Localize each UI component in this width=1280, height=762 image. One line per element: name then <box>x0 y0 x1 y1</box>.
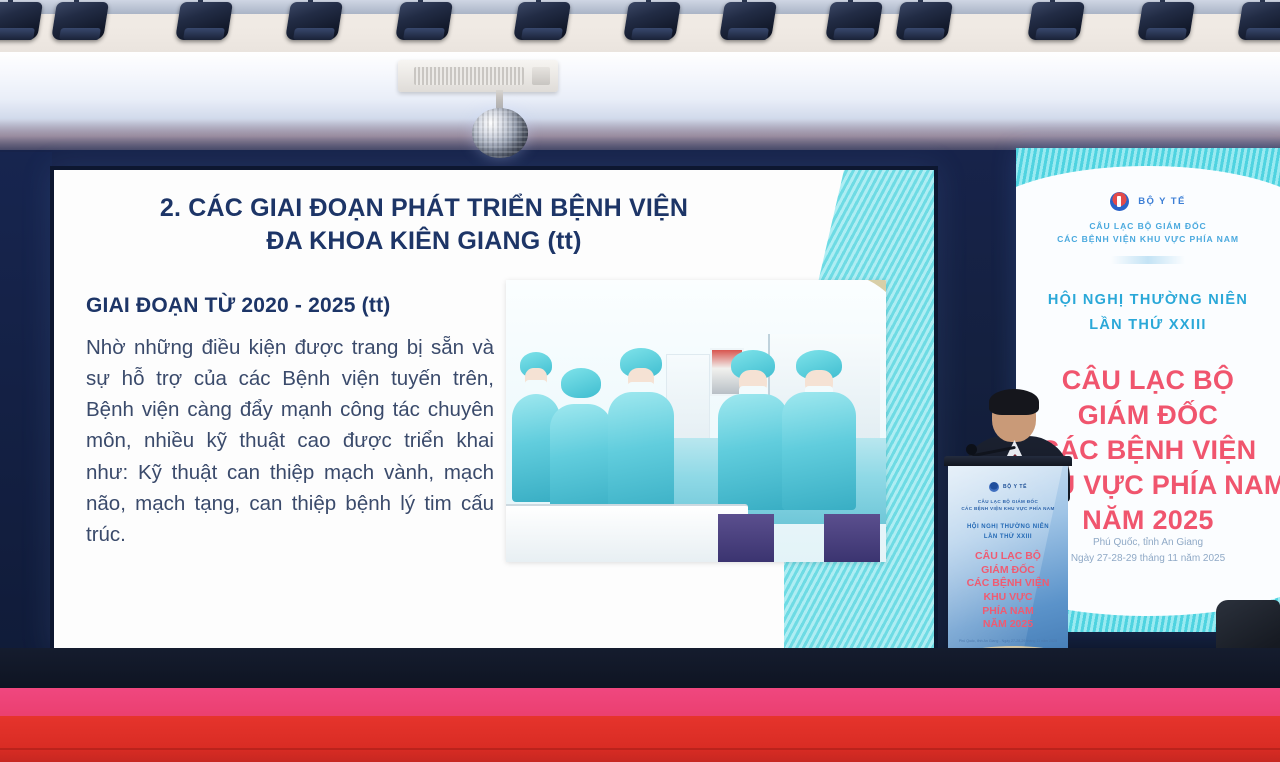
stage-light-icon <box>1240 0 1280 44</box>
stage-carpet-pink <box>0 688 1280 718</box>
ministry-of-health-logo-icon <box>989 482 999 492</box>
mirror-ball-icon <box>472 108 528 158</box>
banner-club-line2: CÁC BỆNH VIỆN KHU VỰC PHÍA NAM <box>1016 233 1280 246</box>
stage-carpet-red <box>0 716 1280 762</box>
banner-conference-line1: HỘI NGHỊ THƯỜNG NIÊN <box>1016 288 1280 313</box>
podium-conference-text: HỘI NGHỊ THƯỜNG NIÊN LẦN THỨ XXIII <box>948 522 1068 542</box>
backdrop-left-panel <box>0 152 52 672</box>
slide-body-text: Nhờ những điều kiện được trang bị sẵn và… <box>86 332 494 550</box>
stage-light-icon <box>626 0 678 44</box>
podium-conference-line1: HỘI NGHỊ THƯỜNG NIÊN <box>948 522 1068 532</box>
microphone-icon <box>966 444 977 455</box>
lead-apron <box>824 514 880 562</box>
stage-light-icon <box>516 0 568 44</box>
stage-light-icon <box>54 0 106 44</box>
ac-vent <box>532 67 550 85</box>
podium-ministry-row: BỘ Y TẾ <box>948 482 1068 492</box>
surgeon-figure <box>718 350 788 510</box>
stage-light-icon <box>288 0 340 44</box>
slide-title-line1: 2. CÁC GIAI ĐOẠN PHÁT TRIỂN BỆNH VIỆN <box>94 192 754 225</box>
surgeon-figure <box>782 350 856 510</box>
stage-carpet-seam <box>0 748 1280 750</box>
podium-headline: CÂU LẠC BỘ GIÁM ĐỐC CÁC BỆNH VIỆN KHU VỰ… <box>948 550 1068 632</box>
stage-scene: 2. CÁC GIAI ĐOẠN PHÁT TRIỂN BỆNH VIỆN ĐA… <box>0 0 1280 762</box>
podium-ministry-label: BỘ Y TẾ <box>1003 484 1027 490</box>
banner-conference-text: HỘI NGHỊ THƯỜNG NIÊN LẦN THỨ XXIII <box>1016 288 1280 338</box>
podium-headline-line: CÁC BỆNH VIỆN <box>948 577 1068 591</box>
stage-lip <box>0 648 1280 690</box>
podium-club-line1: CÂU LẠC BỘ GIÁM ĐỐC <box>948 498 1068 505</box>
podium-headline-line: KHU VỰC <box>948 591 1068 605</box>
slide-subtitle: GIAI ĐOẠN TỪ 2020 - 2025 (tt) <box>86 294 516 318</box>
mirror-ball-stem <box>496 90 503 110</box>
lead-apron <box>718 514 774 562</box>
podium-club-line2: CÁC BỆNH VIỆN KHU VỰC PHÍA NAM <box>948 505 1068 512</box>
stage-light-icon <box>398 0 450 44</box>
banner-ministry-row: BỘ Y TẾ <box>1016 192 1280 211</box>
speaker-hair <box>989 389 1039 415</box>
podium-place-date: Phú Quốc, tỉnh An Giang - Ngày 27-28-29 … <box>948 639 1068 644</box>
surgeon-figure <box>608 348 674 516</box>
podium-club-text: CÂU LẠC BỘ GIÁM ĐỐC CÁC BỆNH VIỆN KHU VỰ… <box>948 498 1068 513</box>
stage-light-icon <box>1140 0 1192 44</box>
stage-light-icon <box>0 0 40 44</box>
slide-title: 2. CÁC GIAI ĐOẠN PHÁT TRIỂN BỆNH VIỆN ĐA… <box>94 192 754 257</box>
banner-club-line1: CÂU LẠC BỘ GIÁM ĐỐC <box>1016 220 1280 233</box>
banner-divider <box>1111 256 1185 264</box>
banner-ministry-label: BỘ Y TẾ <box>1138 196 1185 207</box>
podium-top-surface <box>944 456 1072 466</box>
banner-conference-line2: LẦN THỨ XXIII <box>1016 313 1280 338</box>
operating-table <box>506 504 748 562</box>
podium-panel: BỘ Y TẾ CÂU LẠC BỘ GIÁM ĐỐC CÁC BỆNH VIỆ… <box>948 466 1068 678</box>
podium-headline-line: PHÍA NAM <box>948 605 1068 619</box>
slide-title-line2: ĐA KHOA KIÊN GIANG (tt) <box>94 225 754 258</box>
projection-screen: 2. CÁC GIAI ĐOẠN PHÁT TRIỂN BỆNH VIỆN ĐA… <box>54 170 934 648</box>
stage-light-icon <box>898 0 950 44</box>
banner-club-text: CÂU LẠC BỘ GIÁM ĐỐC CÁC BỆNH VIỆN KHU VỰ… <box>1016 220 1280 247</box>
surgeon-figure <box>550 368 612 514</box>
podium-headline-line: GIÁM ĐỐC <box>948 564 1068 578</box>
stage-light-icon <box>1030 0 1082 44</box>
ceiling-ac-unit <box>398 60 558 92</box>
stage-light-icon <box>828 0 880 44</box>
podium-headline-line: CÂU LẠC BỘ <box>948 550 1068 564</box>
surgery-photo <box>506 280 886 562</box>
ministry-of-health-logo-icon <box>1110 192 1129 211</box>
podium-conference-line2: LẦN THỨ XXIII <box>948 532 1068 542</box>
stage-light-icon <box>178 0 230 44</box>
ac-grille <box>414 67 524 85</box>
podium-headline-line: NĂM 2025 <box>948 618 1068 632</box>
stage-light-icon <box>722 0 774 44</box>
